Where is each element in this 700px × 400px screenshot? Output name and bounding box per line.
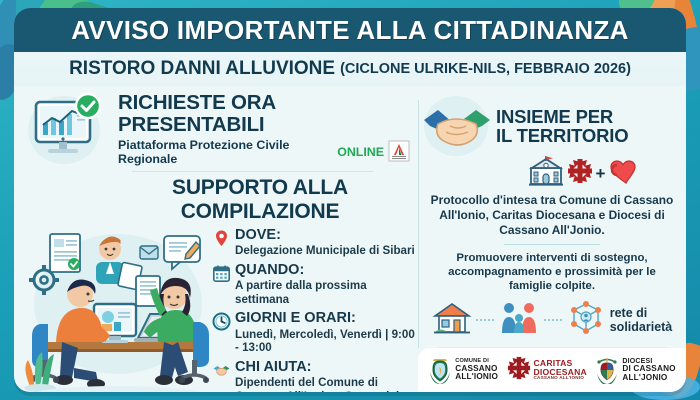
detail-quando: QUANDO: A partire dalla prossima settima… <box>212 263 418 307</box>
logo-comune-text: COMUNE DI CASSANO ALL'IONIO <box>455 359 498 381</box>
family-icon <box>498 301 540 340</box>
clock-icon <box>212 312 231 331</box>
online-badge: ONLINE <box>337 145 384 159</box>
together-title: INSIEME PER IL TERRITORIO <box>496 108 628 146</box>
detail-orari: GIORNI E ORARI: Lunedì, Mercoledì, Vener… <box>212 311 418 355</box>
requests-heading: RICHIESTE ORA PRESENTABILI <box>118 92 410 135</box>
poster-header: AVVISO IMPORTANTE ALLA CITTADINANZA <box>14 8 686 52</box>
poster-body: RICHIESTE ORA PRESENTABILI Piattaforma P… <box>14 86 686 392</box>
footer-logos: COMUNE DI CASSANO ALL'IONIO <box>418 348 686 392</box>
left-column: RICHIESTE ORA PRESENTABILI Piattaforma P… <box>14 86 418 392</box>
logo-diocesi-text: DIOCESI DI CASSANO ALL'JONIO <box>622 358 675 381</box>
network-label-line1: rete di <box>610 306 648 320</box>
support-block: DOVE: Delegazione Municipale di Sibari <box>14 224 418 392</box>
house-icon <box>432 301 472 340</box>
detail-key: QUANDO: <box>235 263 418 278</box>
dashed-connector <box>544 319 562 322</box>
office-support-illustration <box>14 224 210 392</box>
requests-text: RICHIESTE ORA PRESENTABILI Piattaforma P… <box>118 92 410 166</box>
requests-subtitle: Piattaforma Protezione Civile Regionale <box>118 138 333 166</box>
together-block: INSIEME PER IL TERRITORIO <box>418 86 686 160</box>
caritas-cross-icon <box>567 158 593 189</box>
detail-value: Dipendenti del Comune di Cassano All'Ion… <box>235 376 418 392</box>
right-divider <box>504 244 600 245</box>
subheader-main: RISTORO DANNI ALLUVIONE <box>69 58 335 80</box>
caritas-cross-icon <box>507 356 531 384</box>
detail-key: CHI AIUTA: <box>235 360 418 375</box>
handshake-icon <box>212 361 231 380</box>
solidarity-network-row: rete di solidarietà <box>418 301 686 340</box>
subheader-paren: (CICLONE ULRIKE-NILS, FEBBRAIO 2026) <box>340 61 631 77</box>
detail-value: Delegazione Municipale di Sibari <box>235 244 415 258</box>
logo-diocesi: DIOCESI DI CASSANO ALL'JONIO <box>595 356 675 384</box>
poster-root: AVVISO IMPORTANTE ALLA CITTADINANZA RIST… <box>0 0 700 400</box>
town-hall-icon <box>528 156 564 191</box>
logo-caritas-text: CARITAS DIOCESANA CASSANO ALL'IONIO <box>534 359 587 381</box>
logo-line-3: ALL'IONIO <box>455 373 498 381</box>
calendar-icon <box>212 264 231 283</box>
logo-line-3: ALL'JONIO <box>622 374 675 382</box>
notice-card: AVVISO IMPORTANTE ALLA CITTADINANZA RIST… <box>14 8 686 392</box>
logo-comune: COMUNE DI CASSANO ALL'IONIO <box>428 356 498 384</box>
together-title-line2: IL TERRITORIO <box>496 127 628 146</box>
dashed-connector <box>476 319 494 322</box>
handshake-circle-icon <box>420 94 496 160</box>
requests-block: RICHIESTE ORA PRESENTABILI Piattaforma P… <box>14 86 418 166</box>
page-title: AVVISO IMPORTANTE ALLA CITTADINANZA <box>71 15 628 46</box>
monitor-chart-icon <box>22 92 114 166</box>
partners-icon-row: + <box>480 156 686 191</box>
heart-icon <box>608 158 638 189</box>
detail-key: DOVE: <box>235 228 415 243</box>
logo-line-4: CASSANO ALL'IONIO <box>534 376 587 381</box>
logo-caritas: CARITAS DIOCESANA CASSANO ALL'IONIO <box>507 356 587 384</box>
left-divider <box>132 171 374 172</box>
support-details-list: DOVE: Delegazione Municipale di Sibari <box>210 224 418 392</box>
right-column: INSIEME PER IL TERRITORIO <box>418 86 686 392</box>
support-heading: SUPPORTO ALLA COMPILAZIONE <box>102 176 418 224</box>
plus-sign: + <box>596 164 606 184</box>
location-pin-icon <box>212 229 231 248</box>
solidarity-network-label: rete di solidarietà <box>610 307 673 334</box>
protezione-civile-logo-icon <box>388 140 410 165</box>
detail-value: A partire dalla prossima settimana <box>235 279 418 306</box>
network-label-line2: solidarietà <box>610 320 673 334</box>
detail-dove: DOVE: Delegazione Municipale di Sibari <box>212 228 418 258</box>
detail-key: GIORNI E ORARI: <box>235 311 418 326</box>
subheader: RISTORO DANNI ALLUVIONE (CICLONE ULRIKE-… <box>14 52 686 86</box>
network-nodes-icon <box>566 301 606 340</box>
detail-value: Lunedì, Mercoledì, Venerdì | 9:00 - 13:0… <box>235 328 418 355</box>
protocol-paragraph: Protocollo d'intesa tra Comune di Cassan… <box>418 191 686 238</box>
diocesi-crest-icon <box>595 356 619 384</box>
promote-paragraph: Promuovere interventi di sostegno, accom… <box>418 251 686 294</box>
comune-crest-icon <box>428 356 452 384</box>
requests-subtitle-row: Piattaforma Protezione Civile Regionale … <box>118 138 410 166</box>
detail-chi-aiuta: CHI AIUTA: Dipendenti del Comune di Cass… <box>212 360 418 392</box>
